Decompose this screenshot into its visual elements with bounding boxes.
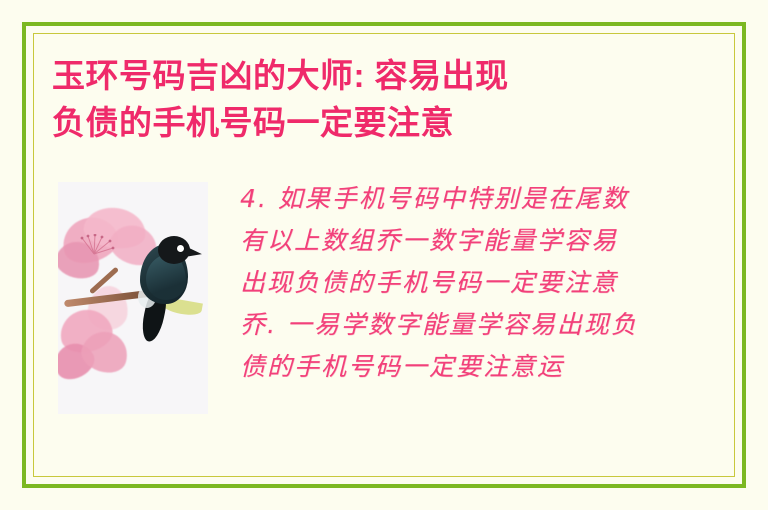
illustration-container (58, 182, 208, 414)
article-body-text: 4. 如果手机号码中特别是在尾数 有以上数组乔一数字能量学容易 出现负债的手机号… (240, 178, 734, 388)
page-title: 玉环号码吉凶的大师: 容易出现 负债的手机号码一定要注意 (52, 52, 652, 146)
article-card: 玉环号码吉凶的大师: 容易出现 负债的手机号码一定要注意 (0, 0, 768, 510)
stamen-icon (72, 234, 116, 256)
bird-beak-icon (185, 247, 202, 259)
article-body-row: 4. 如果手机号码中特别是在尾数 有以上数组乔一数字能量学容易 出现负债的手机号… (34, 182, 734, 414)
card-content: 玉环号码吉凶的大师: 容易出现 负债的手机号码一定要注意 (34, 34, 734, 476)
watercolor-bird-image (58, 182, 208, 414)
bird-eye-icon (176, 244, 185, 253)
bird-head-icon (158, 236, 190, 264)
